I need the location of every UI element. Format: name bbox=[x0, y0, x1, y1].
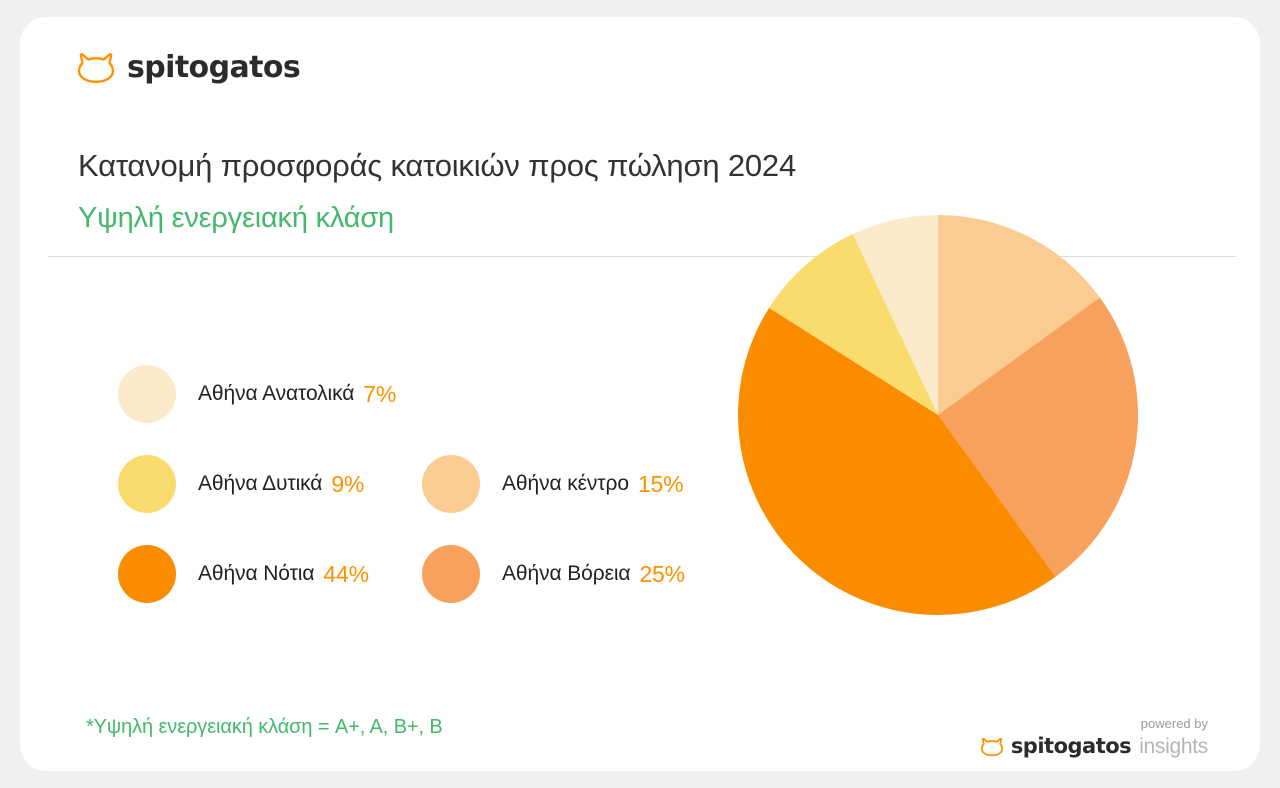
legend-swatch-icon bbox=[118, 455, 176, 513]
legend-label: Αθήνα Ανατολικά bbox=[198, 382, 354, 406]
page-title: Κατανομή προσφοράς κατοικιών προς πώληση… bbox=[78, 148, 796, 184]
legend-item-athina-voreia[interactable]: Αθήνα Βόρεια 25% bbox=[422, 545, 685, 603]
powered-by-badge: powered by spitogatos insights bbox=[981, 717, 1208, 757]
legend-percent: 44% bbox=[323, 561, 368, 588]
content-card: spitogatos Κατανομή προσφοράς κατοικιών … bbox=[20, 17, 1260, 771]
legend-swatch-icon bbox=[422, 455, 480, 513]
legend-item-athina-anatolika[interactable]: Αθήνα Ανατολικά 7% bbox=[118, 365, 396, 423]
powered-by-brand: spitogatos bbox=[1011, 736, 1131, 757]
chart-legend: Αθήνα Ανατολικά 7% Αθήνα Δυτικά 9% Αθήνα… bbox=[118, 365, 758, 635]
legend-label: Αθήνα κέντρο bbox=[502, 472, 629, 496]
cat-head-icon bbox=[981, 738, 1003, 756]
brand-wordmark: spitogatos bbox=[127, 53, 300, 83]
legend-item-athina-kentro[interactable]: Αθήνα κέντρο 15% bbox=[422, 455, 683, 513]
page-subtitle: Υψηλή ενεργειακή κλάση bbox=[78, 202, 394, 235]
legend-percent: 25% bbox=[639, 561, 684, 588]
legend-label: Αθήνα Νότια bbox=[198, 562, 314, 586]
legend-item-athina-notia[interactable]: Αθήνα Νότια 44% bbox=[118, 545, 369, 603]
legend-swatch-icon bbox=[118, 365, 176, 423]
legend-percent: 9% bbox=[331, 471, 364, 498]
legend-percent: 15% bbox=[638, 471, 683, 498]
legend-swatch-icon bbox=[422, 545, 480, 603]
cat-head-icon bbox=[78, 53, 114, 83]
legend-percent: 7% bbox=[363, 381, 396, 408]
legend-swatch-icon bbox=[118, 545, 176, 603]
powered-by-label: powered by bbox=[981, 717, 1208, 730]
legend-label: Αθήνα Βόρεια bbox=[502, 562, 630, 586]
infographic-canvas: spitogatos Κατανομή προσφοράς κατοικιών … bbox=[0, 0, 1280, 788]
legend-label: Αθήνα Δυτικά bbox=[198, 472, 322, 496]
powered-by-logo: spitogatos insights bbox=[981, 736, 1208, 757]
pie-chart-svg bbox=[737, 214, 1139, 616]
pie-chart bbox=[737, 214, 1139, 616]
brand-logo: spitogatos bbox=[78, 53, 300, 83]
powered-by-product: insights bbox=[1139, 736, 1208, 757]
footnote-text: *Υψηλή ενεργειακή κλάση = A+, A, B+, B bbox=[86, 716, 443, 739]
legend-item-athina-dytika[interactable]: Αθήνα Δυτικά 9% bbox=[118, 455, 364, 513]
